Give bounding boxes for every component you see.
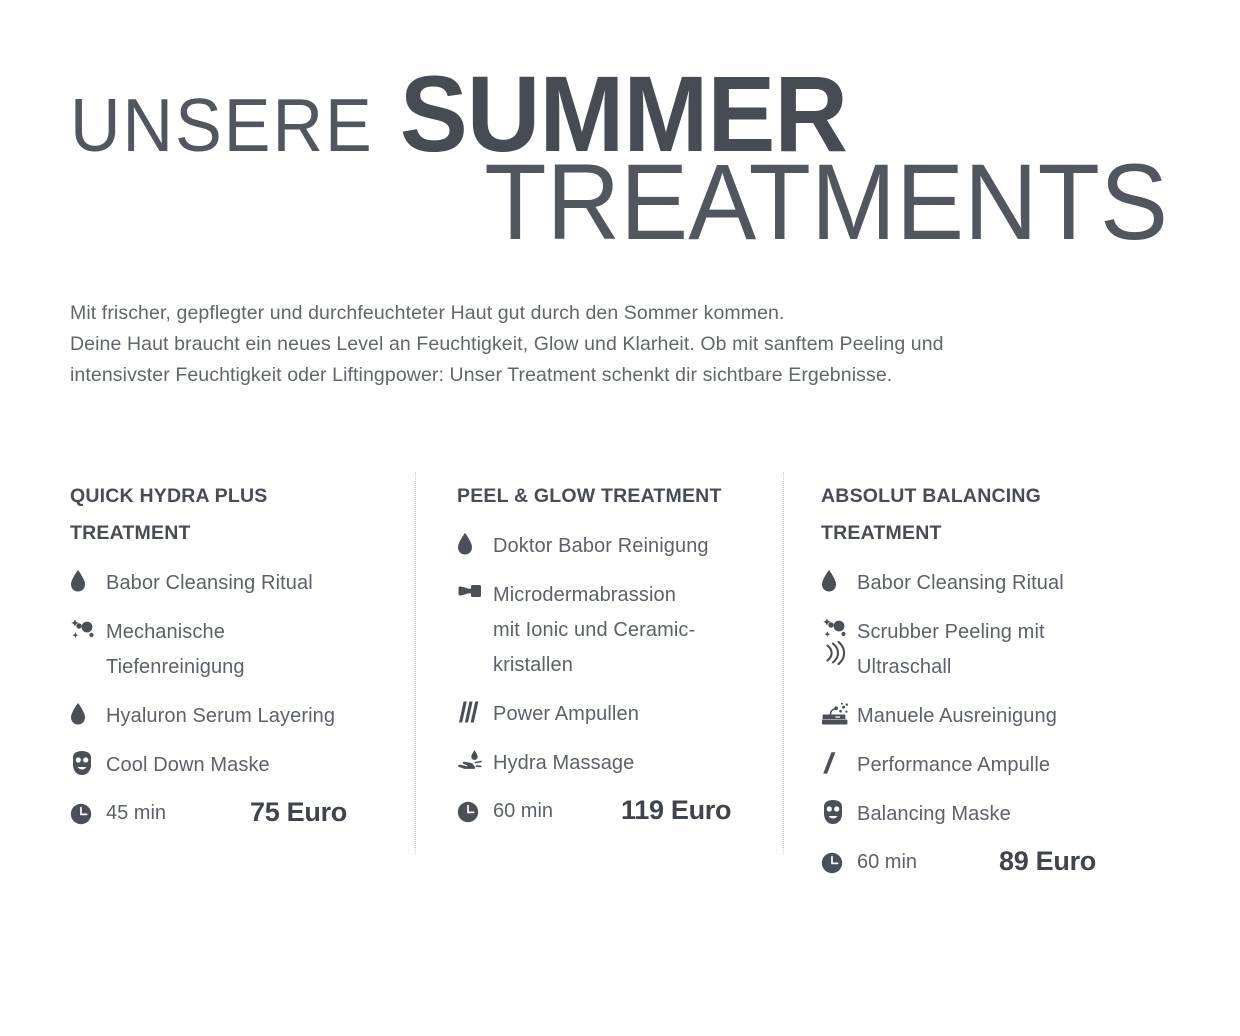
title-word-treatments: TREATMENTS: [484, 148, 1168, 256]
treatment-columns: QUICK HYDRA PLUS TREATMENT Babor Cleansi…: [70, 478, 1175, 877]
intro-line-1: Mit frischer, gepflegter und durchfeucht…: [70, 298, 1170, 329]
list-item-label-line-2: mit Ionic und Ceramic-: [493, 613, 695, 648]
list-item: Manuele Ausreinigung: [821, 699, 1151, 734]
intro-line-2: Deine Haut braucht ein neues Level an Fe…: [70, 329, 1170, 360]
treatment-step-list: Babor Cleansing Ritual: [821, 566, 1151, 832]
ultrasound-waves-icon: [824, 641, 846, 665]
list-item: Performance Ampulle: [821, 748, 1151, 783]
card-title: ABSOLUT BALANCING TREATMENT: [821, 478, 1151, 552]
intro-paragraph: Mit frischer, gepflegter und durchfeucht…: [70, 298, 1170, 391]
title-line-secondary: TREATMENTS: [70, 154, 1170, 256]
card-footer: 60 min 119 Euro: [457, 795, 759, 826]
card-title-line-1: PEEL & GLOW TREATMENT: [457, 478, 759, 515]
list-item: Hydra Massage: [457, 746, 759, 781]
duration-label: 60 min: [857, 848, 917, 876]
list-item-label: Hydra Massage: [493, 746, 634, 781]
list-item-label: Power Ampullen: [493, 697, 639, 732]
card-title: QUICK HYDRA PLUS TREATMENT: [70, 478, 391, 552]
list-item-label: Mechanische Tiefenreinigung: [106, 615, 245, 685]
clock-icon: [70, 801, 98, 827]
treatment-step-list: Doktor Babor Reinigung Microdermabrassio…: [457, 529, 759, 781]
list-item: Hyaluron Serum Layering: [70, 699, 391, 734]
card-footer: 60 min 89 Euro: [821, 846, 1151, 877]
list-item-label-line-1: Microdermabrassion: [493, 584, 676, 606]
list-item: Cool Down Maske: [70, 748, 391, 783]
treatment-card-quick-hydra-plus: QUICK HYDRA PLUS TREATMENT Babor Cleansi…: [70, 478, 415, 877]
list-item-label: Babor Cleansing Ritual: [106, 566, 313, 601]
treatments-flyer: UNSERE SUMMER TREATMENTS Mit frischer, g…: [0, 0, 1240, 1036]
card-title-line-2: TREATMENT: [70, 515, 391, 552]
card-footer: 45 min 75 Euro: [70, 797, 391, 828]
list-item: Power Ampullen: [457, 697, 759, 732]
price-label: 89 Euro: [999, 846, 1096, 877]
list-item-label-line-3: kristallen: [493, 648, 695, 683]
price-label: 119 Euro: [621, 795, 731, 826]
list-item-label: Cool Down Maske: [106, 748, 270, 783]
list-item-label: Babor Cleansing Ritual: [857, 566, 1064, 601]
steamer-icon: [821, 701, 849, 727]
treatment-step-list: Babor Cleansing Ritual Mechanische: [70, 566, 391, 783]
hand-droplet-icon: [457, 748, 485, 774]
card-title: PEEL & GLOW TREATMENT: [457, 478, 759, 515]
list-item-label-line-2: Tiefenreinigung: [106, 650, 245, 685]
list-item-label: Doktor Babor Reinigung: [493, 529, 709, 564]
sparkle-bubbles-icon: [70, 617, 98, 643]
list-item: Babor Cleansing Ritual: [70, 566, 391, 601]
list-item: Microdermabrassion mit Ionic und Ceramic…: [457, 578, 759, 683]
list-item: Mechanische Tiefenreinigung: [70, 615, 391, 685]
treatment-card-peel-and-glow: PEEL & GLOW TREATMENT Doktor Babor Reini…: [415, 478, 783, 877]
list-item-label-line-2: Ultraschall: [857, 650, 1045, 685]
droplet-icon: [70, 568, 98, 594]
droplet-icon: [457, 531, 485, 557]
droplet-icon: [821, 568, 849, 594]
droplet-icon: [70, 701, 98, 727]
face-mask-icon: [821, 799, 849, 825]
scrubber-ultrasound-icon-group: [821, 617, 849, 665]
list-item-label: Scrubber Peeling mit Ultraschall: [857, 615, 1045, 685]
single-ampoule-icon: [821, 750, 849, 776]
sparkle-bubbles-icon: [822, 617, 848, 641]
list-item-label: Microdermabrassion mit Ionic und Ceramic…: [493, 578, 695, 683]
ampoules-icon: [457, 699, 485, 725]
list-item: Scrubber Peeling mit Ultraschall: [821, 615, 1151, 685]
list-item: Babor Cleansing Ritual: [821, 566, 1151, 601]
price-label: 75 Euro: [250, 797, 347, 828]
face-mask-icon: [70, 750, 98, 776]
clock-icon: [821, 850, 849, 876]
clock-icon: [457, 799, 485, 825]
intro-line-3: intensivster Feuchtigkeit oder Liftingpo…: [70, 360, 1170, 391]
list-item-label: Performance Ampulle: [857, 748, 1050, 783]
list-item-label: Manuele Ausreinigung: [857, 699, 1057, 734]
list-item: Doktor Babor Reinigung: [457, 529, 759, 564]
card-title-line-1: ABSOLUT BALANCING: [821, 478, 1151, 515]
card-title-line-2: TREATMENT: [821, 515, 1151, 552]
list-item-label: Balancing Maske: [857, 797, 1011, 832]
title-word-unsere: UNSERE: [70, 87, 374, 163]
duration-label: 60 min: [493, 797, 553, 825]
list-item-label-line-1: Scrubber Peeling mit: [857, 621, 1045, 643]
list-item-label: Hyaluron Serum Layering: [106, 699, 335, 734]
duration-label: 45 min: [106, 799, 166, 827]
list-item: Balancing Maske: [821, 797, 1151, 832]
page-title: UNSERE SUMMER TREATMENTS: [0, 0, 1240, 256]
list-item-label-line-1: Mechanische: [106, 621, 225, 643]
microdermabrasion-wand-icon: [457, 580, 485, 606]
card-title-line-1: QUICK HYDRA PLUS: [70, 478, 391, 515]
treatment-card-absolut-balancing: ABSOLUT BALANCING TREATMENT Babor Cleans…: [783, 478, 1175, 877]
